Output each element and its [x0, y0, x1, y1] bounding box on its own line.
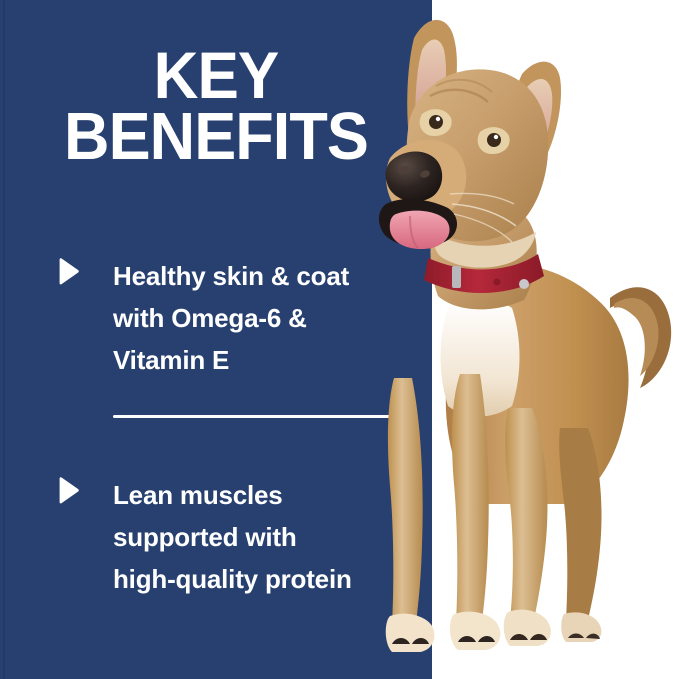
benefit-text-2: Lean muscles supported with high-quality…	[113, 474, 352, 600]
dog-nose	[386, 152, 443, 202]
dog-photo	[352, 8, 679, 668]
panel-edge-stripe	[3, 0, 5, 679]
benefit-text-1: Healthy skin & coat with Omega-6 & Vitam…	[113, 255, 349, 381]
dog-leg-rear-far	[559, 428, 601, 620]
key-benefits-poster: KEY BENEFITS Healthy skin & coat with Om…	[0, 0, 679, 679]
dog-leg-front-right	[452, 374, 489, 622]
collar-tag	[519, 279, 529, 289]
triangle-right-icon	[57, 477, 80, 504]
dog-leg-rear-near	[505, 408, 547, 620]
dog-leg-front-left	[388, 378, 423, 624]
triangle-right-icon	[57, 258, 80, 285]
collar-buckle	[452, 266, 461, 288]
